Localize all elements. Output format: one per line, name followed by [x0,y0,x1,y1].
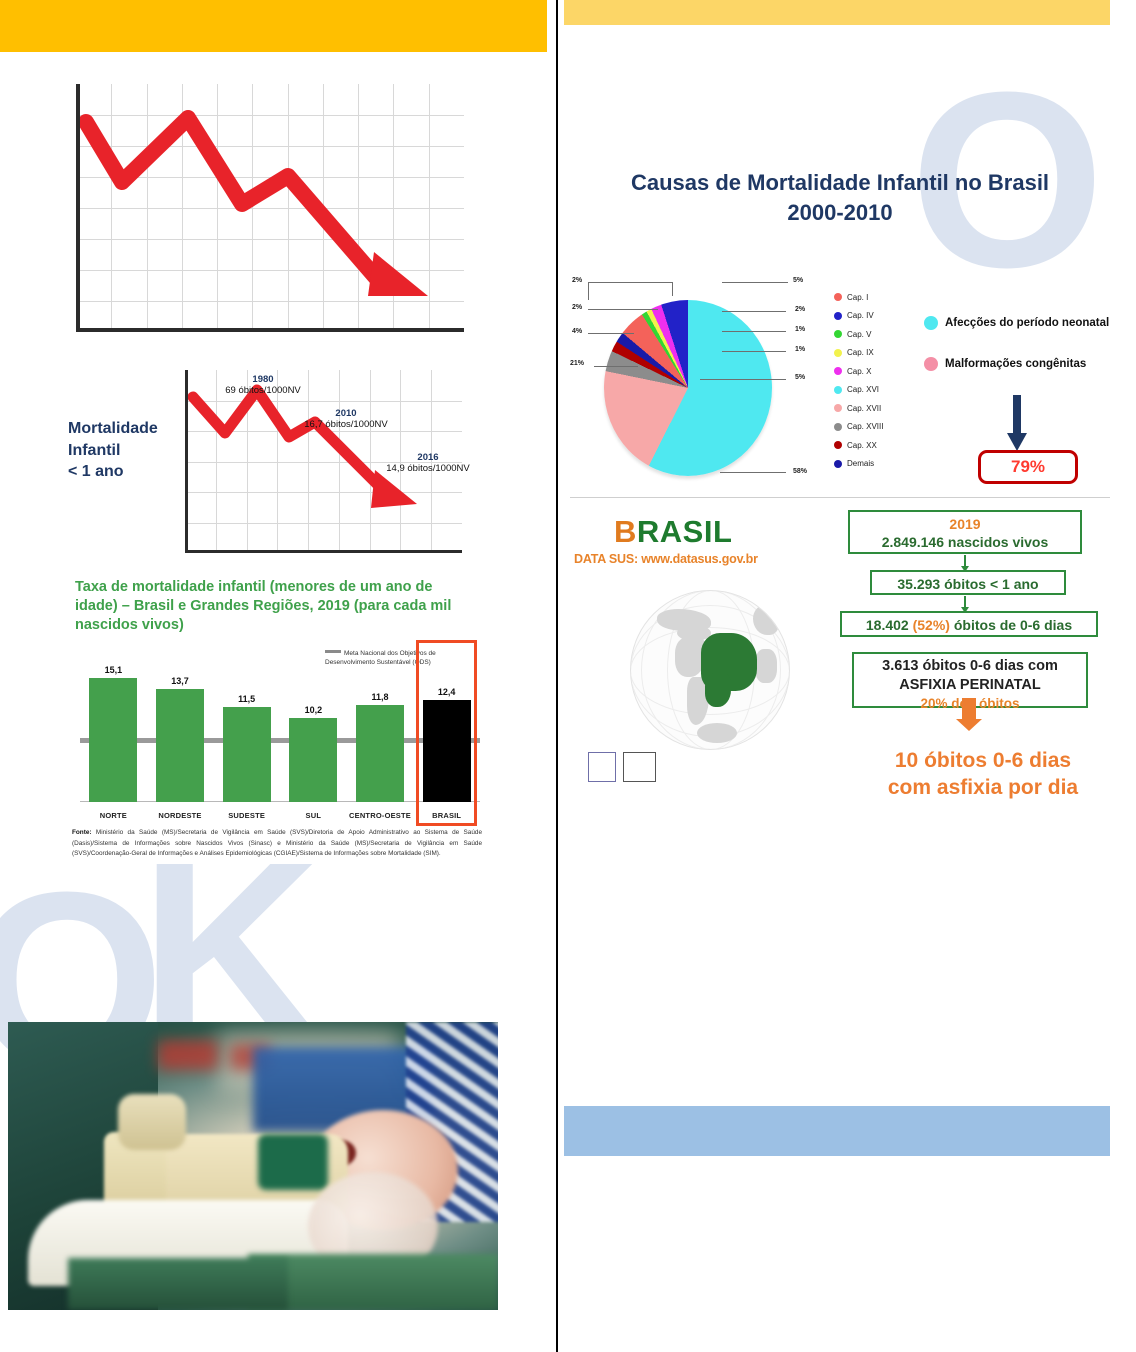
legend-item[interactable]: Cap. XVI [834,381,934,400]
flow-arrow-orange [962,698,976,720]
legend-malformacoes-congenitas: Malformações congênitas [924,357,1086,371]
watermark-text: K [140,850,321,1050]
legend-label: Cap. I [847,293,868,302]
annotation-2010: 2010 16,7 óbitos/1000NV [286,408,406,430]
logo-1 [588,752,616,782]
final-conclusion-text: 10 óbitos 0-6 dias com asfixia por dia [848,748,1118,802]
flow-box-3-text: 18.402 (52%) óbitos de 0-6 dias [842,616,1096,634]
pie-slices [604,300,772,476]
pie-percent-label: 1% [795,346,805,353]
bar-norte[interactable] [89,678,137,802]
pie-percent-label: 4% [572,328,582,335]
legend-label: Cap. X [847,367,871,376]
pie-leader-line [588,309,658,310]
logo-2 [623,752,656,782]
legend-label: Cap. IV [847,311,874,320]
trend-arrow-line [76,84,464,332]
regional-mortality-bar-chart: 15,1NORTE13,7NORDESTE11,5SUDESTE10,2SUL1… [80,648,480,820]
legend-label: Cap. XVII [847,404,881,413]
header-band-left [0,0,547,52]
pie-leader-line [722,311,786,312]
legend-swatch [834,293,842,301]
final-line-1: 10 óbitos 0-6 dias [848,748,1118,775]
bar-value-label: 13,7 [156,676,204,686]
bar-brasil[interactable] [423,700,471,802]
pie-percent-label: 2% [572,304,582,311]
flow-arrow-1 [964,555,966,567]
flow-arrow-2 [964,596,966,608]
legend-swatch [834,330,842,338]
bar-value-label: 15,1 [89,665,137,675]
page-divider [556,0,558,1352]
bar-chart-title: Taxa de mortalidade infantil (menores de… [75,578,475,635]
declining-trend-arrow-chart [76,84,464,332]
legend-item[interactable]: Cap. XVII [834,399,934,418]
bar-category-label: BRASIL [416,811,478,820]
flow-box-obitos-0-6-dias: 18.402 (52%) óbitos de 0-6 dias [840,611,1098,637]
bar-value-label: 10,2 [289,705,337,715]
source-note: Fonte: Ministério da Saúde (MS)/Secretar… [72,828,482,860]
newborn-baby-photo [8,1022,498,1310]
pie-percent-label: 5% [795,374,805,381]
legend-item[interactable]: Cap. IV [834,307,934,326]
pie-percent-label: 1% [795,326,805,333]
pie-leader-line [588,282,672,283]
legend-swatch [834,312,842,320]
legend-item[interactable]: Cap. X [834,362,934,381]
institution-logos [588,752,656,782]
bar-centro-oeste[interactable] [356,705,404,802]
pie-leader-line [672,282,673,296]
flow-box-nascidos-vivos: 2019 2.849.146 nascidos vivos [848,510,1082,554]
bar-category-label: SUDESTE [216,811,278,820]
x-axis [76,328,464,332]
pie-chart-legend: Cap. ICap. IVCap. VCap. IXCap. XCap. XVI… [834,288,934,473]
legend-item[interactable]: Cap. I [834,288,934,307]
page-title-line-1: Causas de Mortalidade Infantil no Brasil [570,168,1110,198]
legend-swatch [834,441,842,449]
y-axis [185,370,188,553]
pie-leader-line [594,366,638,367]
globe-brazil-highlighted-icon [630,590,790,750]
legend-item[interactable]: Cap. V [834,325,934,344]
annotation-1980: 1980 69 óbitos/1000NV [203,374,323,396]
pie-percent-label: 5% [793,277,803,284]
footer-band-blue [564,1106,1110,1156]
brasil-heading: BRASIL [614,514,732,550]
pie-percent-label: 58% [793,468,807,475]
legend-swatch-pink [924,357,938,371]
label-line-2: Infantil [68,440,188,462]
pie-leader-line [720,472,786,473]
legend-swatch [834,423,842,431]
bar-value-label: 12,4 [423,687,471,697]
page-title-line-2: 2000-2010 [570,198,1110,228]
y-axis [76,84,80,332]
pie-leader-line [722,331,786,332]
legend-swatch-cyan [924,316,938,330]
legend-label: Demais [847,459,874,468]
pie-percent-label: 2% [572,277,582,284]
legend-item[interactable]: Cap. XVIII [834,418,934,437]
pie-percent-label: 2% [795,306,805,313]
final-line-2: com asfixia por dia [848,775,1118,802]
document-page: O K O Mortalidade Infantil < 1 ano 1980 … [0,0,1136,1352]
pie-leader-line [700,379,786,380]
total-percentage-badge: 79% [978,450,1078,484]
pie-leader-line [588,282,589,300]
legend-item[interactable]: Cap. IX [834,344,934,363]
header-band-right [564,0,1110,25]
legend-swatch [834,367,842,375]
pie-leader-line [588,333,634,334]
legend-label: Cap. IX [847,348,874,357]
legend-afeccoes-neonatal: Afecções do período neonatal [924,316,1109,330]
page-title: Causas de Mortalidade Infantil no Brasil… [570,168,1110,227]
label-line-3: < 1 ano [68,461,188,483]
annotation-2016: 2016 14,9 óbitos/1000NV [368,452,488,474]
bar-sudeste[interactable] [223,707,271,802]
legend-label: Cap. XVIII [847,422,883,431]
bar-category-label: NORTE [82,811,144,820]
pie-leader-line [722,351,786,352]
legend-swatch [834,404,842,412]
legend-label: Cap. XVI [847,385,879,394]
bar-category-label: NORDESTE [149,811,211,820]
label-line-1: Mortalidade [68,418,188,440]
flow-box-obitos-1-ano: 35.293 óbitos < 1 ano [870,570,1066,595]
legend-label: Cap. XX [847,441,877,450]
bar-category-label: SUL [282,811,344,820]
bar-value-label: 11,8 [356,692,404,702]
legend-item[interactable]: Cap. XX [834,436,934,455]
bar-sul[interactable] [289,718,337,802]
x-axis [185,550,462,553]
legend-swatch [834,460,842,468]
pie-percent-label: 21% [570,360,584,367]
legend-label: Cap. V [847,330,871,339]
pie-leader-line [722,282,788,283]
bar-category-label: CENTRO-OESTE [349,811,411,820]
section-separator [570,497,1110,498]
causes-pie-chart: 2%2%4%21%5%2%1%1%5%58% [572,276,822,492]
legend-swatch [834,386,842,394]
datasus-url-label: DATA SUS: www.datasus.gov.br [574,552,758,566]
mortality-chart-label: Mortalidade Infantil < 1 ano [68,418,188,483]
bar-value-label: 11,5 [223,694,271,704]
bar-nordeste[interactable] [156,689,204,802]
legend-item[interactable]: Demais [834,455,934,474]
down-arrow-icon [1005,395,1029,453]
legend-swatch [834,349,842,357]
